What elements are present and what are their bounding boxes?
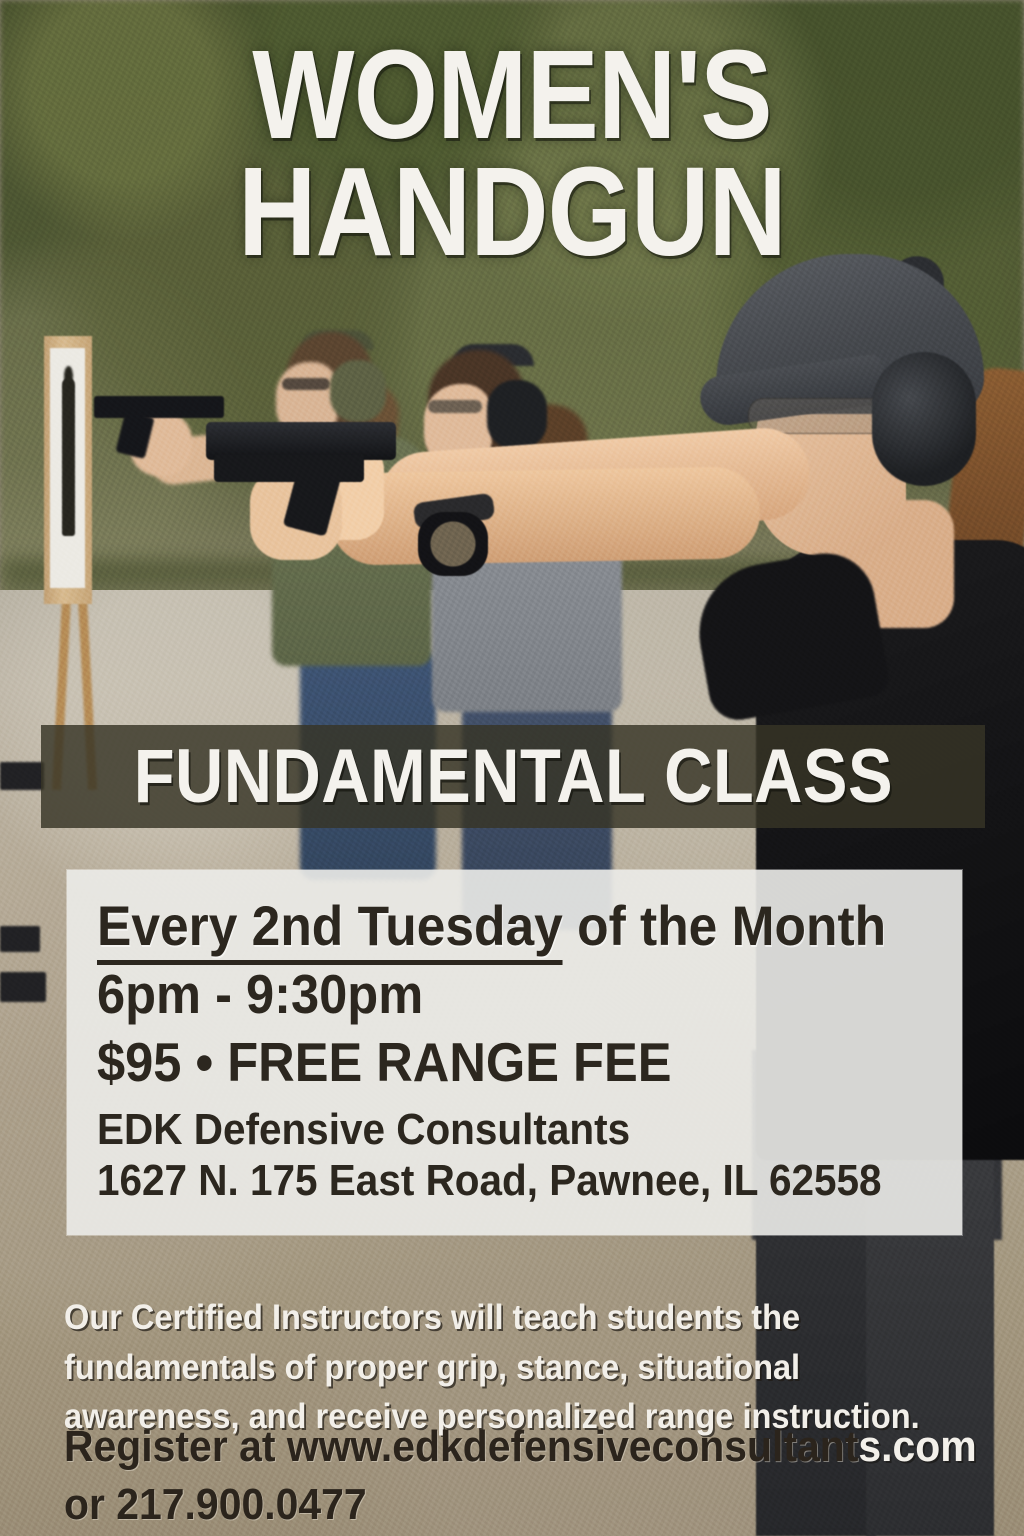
- class-date-underlined: Every 2nd Tuesday: [97, 894, 563, 965]
- register-phone[interactable]: or 217.900.0477: [64, 1476, 957, 1534]
- poster-canvas: WOMEN'S HANDGUN FUNDAMENTAL CLASS Every …: [0, 0, 1024, 1536]
- organization-name: EDK Defensive Consultants: [97, 1104, 865, 1155]
- class-details-card: Every 2nd Tuesday of the Month 6pm - 9:3…: [67, 870, 962, 1235]
- class-title-text: FUNDAMENTAL CLASS: [133, 739, 892, 815]
- headline-line-2: HANDGUN: [72, 153, 953, 270]
- registration-info: Register at www.edkdefensiveconsultants.…: [64, 1418, 957, 1534]
- class-date-rest: of the Month: [563, 894, 886, 957]
- venue-address: 1627 N. 175 East Road, Pawnee, IL 62558: [97, 1155, 865, 1206]
- poster-headline: WOMEN'S HANDGUN: [72, 36, 953, 270]
- class-price: $95 • FREE RANGE FEE: [97, 1032, 865, 1094]
- register-website-light[interactable]: s.com: [858, 1422, 976, 1471]
- class-date-line: Every 2nd Tuesday of the Month: [97, 896, 865, 956]
- class-title-band: FUNDAMENTAL CLASS: [41, 725, 985, 828]
- class-time: 6pm - 9:30pm: [97, 964, 865, 1026]
- register-website-dark[interactable]: Register at www.edkdefensiveconsultant: [64, 1422, 858, 1471]
